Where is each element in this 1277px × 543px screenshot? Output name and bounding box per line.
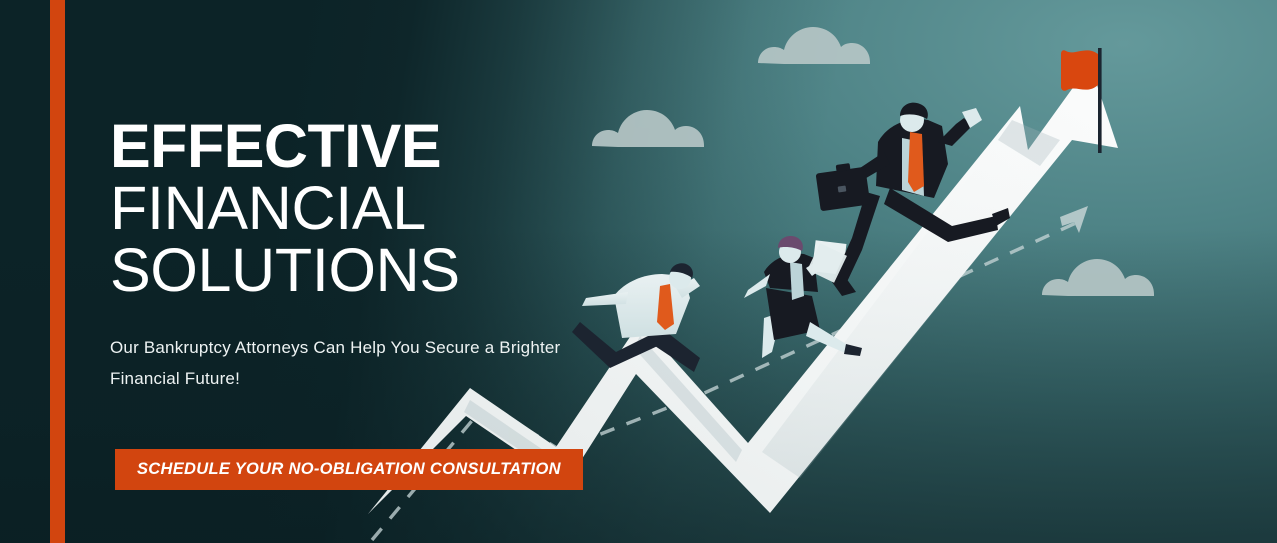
cloud-icon-right xyxy=(1042,259,1154,296)
headline-line-3: SOLUTIONS xyxy=(110,242,730,300)
headline-line-2: FINANCIAL xyxy=(110,180,730,238)
headline-line-1: EFFECTIVE xyxy=(110,118,730,176)
hero-banner: EFFECTIVE FINANCIAL SOLUTIONS Our Bankru… xyxy=(0,0,1277,543)
cloud-icon-top xyxy=(758,27,870,64)
hero-subheading: Our Bankruptcy Attorneys Can Help You Se… xyxy=(110,332,570,395)
briefcase-icon xyxy=(816,163,871,211)
hero-copy: EFFECTIVE FINANCIAL SOLUTIONS Our Bankru… xyxy=(110,118,730,395)
page-title: EFFECTIVE FINANCIAL SOLUTIONS xyxy=(110,118,730,300)
schedule-consultation-button[interactable]: SCHEDULE YOUR NO-OBLIGATION CONSULTATION xyxy=(115,449,583,490)
